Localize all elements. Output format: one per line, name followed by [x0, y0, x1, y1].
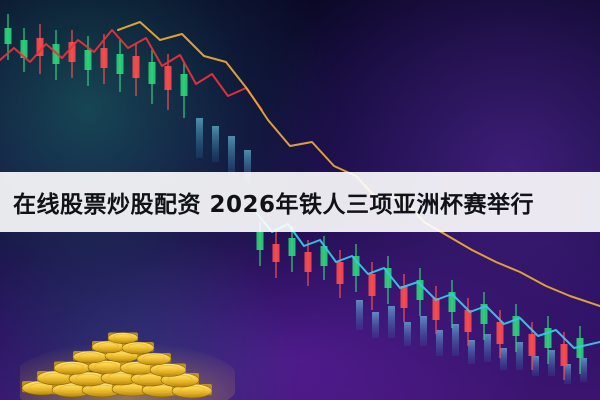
headline-banner: 在线股票炒股配资 2026年铁人三项亚洲杯赛举行 [0, 172, 600, 232]
headline-title: 在线股票炒股配资 2026年铁人三项亚洲杯赛举行 [0, 185, 534, 219]
image-canvas: 在线股票炒股配资 2026年铁人三项亚洲杯赛举行 [0, 0, 600, 400]
chart-volume-bars [196, 118, 587, 384]
gold-coin-pile-icon [20, 310, 235, 400]
